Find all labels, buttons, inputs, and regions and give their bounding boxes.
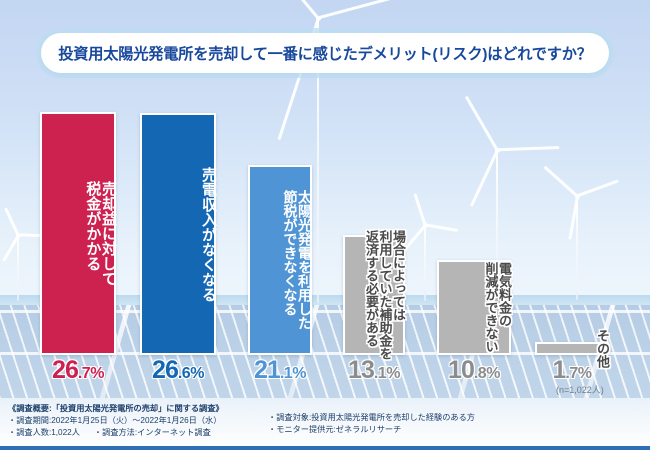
bar-value-3: 21.1% (248, 358, 312, 383)
survey-target-column: ・調査対象:投資用太陽光発電所を売却した経験のある方 ・モニター提供元:ゼネラル… (268, 412, 475, 436)
survey-count: ・調査人数:1,022人 (8, 427, 80, 439)
value-fraction: .6% (178, 365, 204, 382)
value-whole: 21 (254, 356, 280, 384)
value-fraction: .7% (565, 365, 591, 382)
bar-column: 売却益に対して 税金がかかる26.7% (40, 0, 116, 450)
survey-overview-heading: 《調査概要:「投資用太陽光発電所の売却」に関する調査》 (8, 403, 224, 415)
survey-method: ・調査方法:インターネット調査 (94, 427, 211, 439)
value-whole: 26 (152, 356, 178, 384)
survey-period: ・調査期間:2022年1月25日（火）〜2022年1月26日（水） (8, 415, 224, 427)
bar-6[interactable] (535, 342, 609, 355)
bar-5[interactable] (437, 260, 511, 355)
survey-overview-column: 《調査概要:「投資用太陽光発電所の売却」に関する調査》 ・調査期間:2022年1… (8, 403, 224, 439)
bar-1[interactable] (40, 112, 116, 355)
bar-3[interactable] (248, 165, 312, 355)
bar-value-1: 26.7% (40, 358, 116, 383)
bar-column: 電気料金の 削減ができない10.8% (437, 0, 511, 450)
survey-monitor: ・モニター提供元:ゼネラルリサーチ (268, 424, 475, 436)
bar-column: 場合によっては 利用していた補助金を 返済する必要がある13.1% (343, 0, 405, 450)
value-fraction: .7% (78, 365, 104, 382)
bar-value-4: 13.1% (343, 358, 405, 383)
bar-chart: 売却益に対して 税金がかかる26.7%売電収入がなくなる26.6%太陽光発電を利… (0, 0, 650, 450)
sample-size-note: (n=1,022人) (556, 383, 604, 396)
value-fraction: .1% (374, 365, 400, 382)
bar-value-6: 1.7% (535, 358, 609, 383)
value-whole: 13 (348, 356, 374, 384)
bar-2[interactable] (140, 113, 216, 355)
footer: 《調査概要:「投資用太陽光発電所の売却」に関する調査》 ・調査期間:2022年1… (0, 398, 650, 450)
bar-column: 太陽光発電を利用した 節税ができなくなる21.1% (248, 0, 312, 450)
value-whole: 1 (553, 356, 566, 384)
survey-target: ・調査対象:投資用太陽光発電所を売却した経験のある方 (268, 412, 475, 424)
bar-4[interactable] (343, 235, 405, 355)
bar-value-2: 26.6% (140, 358, 216, 383)
value-whole: 10 (448, 356, 474, 384)
bar-value-5: 10.8% (437, 358, 511, 383)
value-whole: 26 (52, 356, 78, 384)
value-fraction: .1% (280, 365, 306, 382)
value-fraction: .8% (474, 365, 500, 382)
bar-column: 売電収入がなくなる26.6% (140, 0, 216, 450)
